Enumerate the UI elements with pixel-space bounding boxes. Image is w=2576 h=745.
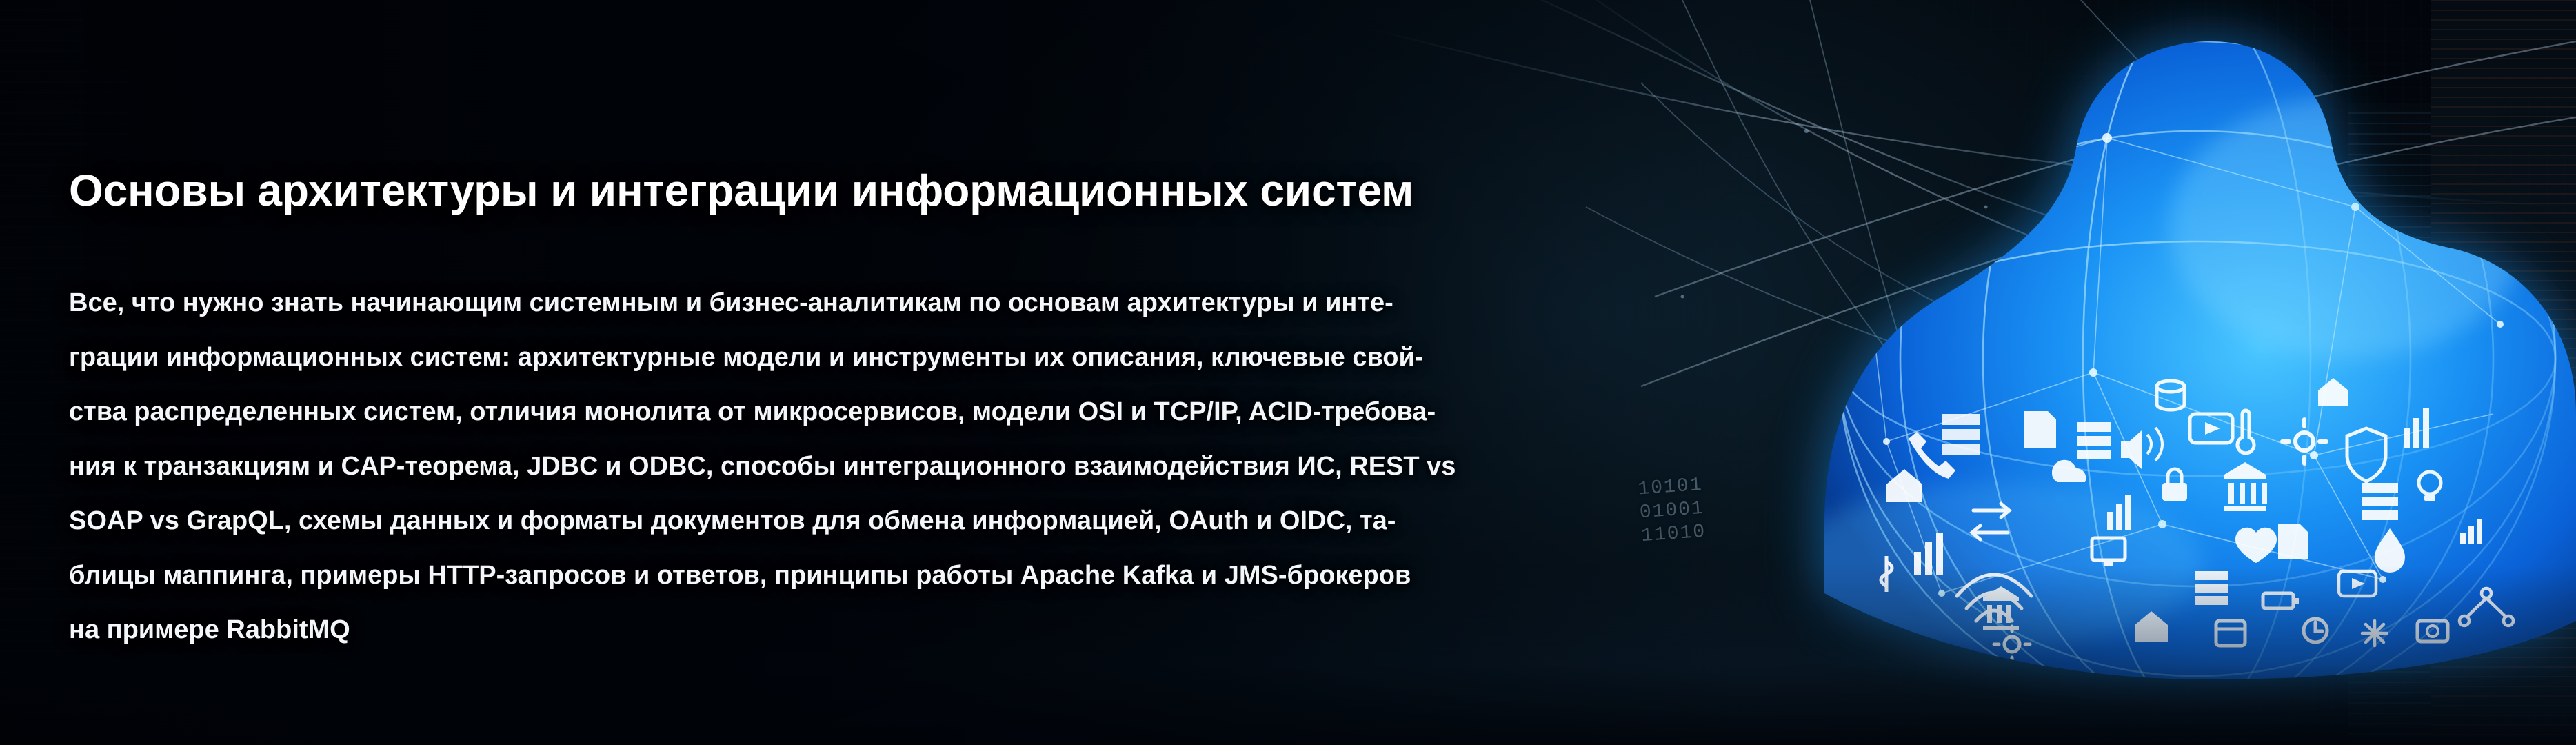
description-line: грации информационных систем: архитектур… xyxy=(69,330,1572,385)
description-line: на примере RabbitMQ xyxy=(69,603,1572,657)
description-line: SOAP vs GrapQL, схемы данных и форматы д… xyxy=(69,494,1572,548)
page-title: Основы архитектуры и интеграции информац… xyxy=(69,165,1413,216)
description-line: ния к транзакциям и CAP-теорема, JDBC и … xyxy=(69,439,1572,494)
description-line: Все, что нужно знать начинающим системны… xyxy=(69,276,1572,330)
banner-description: Все, что нужно знать начинающим системны… xyxy=(69,276,1572,657)
hero-banner: 10101 01001 11010 Основы архитектуры и и… xyxy=(0,0,2576,745)
banner-content: Основы архитектуры и интеграции информац… xyxy=(0,0,1669,745)
description-line: ства распределенных систем, отличия моно… xyxy=(69,385,1572,439)
description-line: блицы маппинга, примеры HTTP-запросов и … xyxy=(69,548,1572,603)
